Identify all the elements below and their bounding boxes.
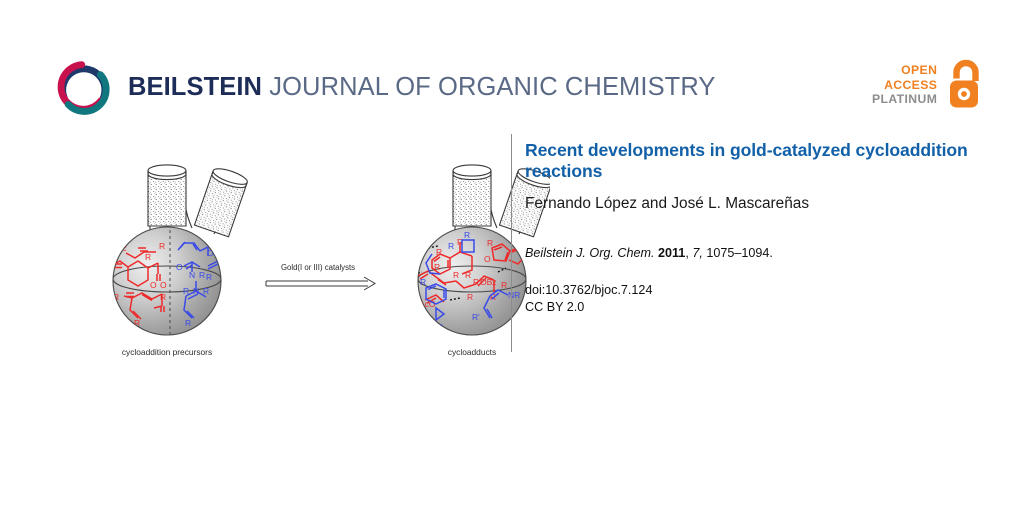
svg-text:N: N [189, 270, 195, 280]
svg-text:R: R [448, 241, 454, 251]
svg-text:R: R [464, 230, 470, 240]
beilstein-ring-logo-icon [52, 56, 114, 118]
open-access-wordstack: OPEN ACCESS PLATINUM [872, 63, 937, 106]
left-flask-neck-primary [148, 165, 186, 226]
svg-text:OAc: OAc [110, 243, 127, 253]
svg-text:R: R [203, 286, 209, 296]
svg-text:R: R [436, 247, 442, 257]
article-authors: Fernando López and José L. Mascareñas [525, 194, 975, 213]
masthead: BEILSTEIN JOURNAL OF ORGANIC CHEMISTRY O… [0, 0, 1024, 135]
svg-text:R: R [434, 262, 440, 272]
svg-text:R: R [467, 292, 473, 302]
graphical-abstract-figure: OAc R R O O R R R [80, 148, 550, 368]
svg-text:R': R' [472, 312, 480, 322]
right-flask-neck-primary [453, 165, 491, 226]
svg-text:R: R [206, 272, 212, 282]
citation-volume: 7, [692, 246, 703, 260]
citation-year: 2011 [658, 246, 685, 260]
svg-text:N: N [193, 286, 199, 296]
article-citation: Beilstein J. Org. Chem. 2011, 7, 1075–10… [525, 245, 975, 261]
svg-text:R: R [183, 286, 189, 296]
svg-text:R: R [487, 238, 493, 248]
svg-text:O: O [150, 280, 157, 290]
svg-text:O: O [484, 254, 491, 264]
open-access-badge[interactable]: OPEN ACCESS PLATINUM [872, 59, 984, 111]
open-padlock-icon [944, 59, 984, 111]
graphical-abstract: OAc R R O O R R R [80, 148, 550, 368]
svg-text:R: R [160, 292, 166, 302]
svg-text:R: R [159, 241, 165, 251]
article-doi[interactable]: doi:10.3762/bjoc.7.124 [525, 282, 975, 300]
article-metadata-panel: Recent developments in gold-catalyzed cy… [525, 140, 975, 317]
journal-wordmark-strong: BEILSTEIN [128, 73, 262, 101]
svg-text:R: R [473, 277, 479, 287]
column-divider [511, 134, 512, 352]
svg-text:O: O [160, 280, 167, 290]
citation-journal: Beilstein J. Org. Chem. [525, 246, 654, 260]
right-flask-caption: cycloadducts [448, 347, 496, 357]
reaction-arrow-group: Gold(I or III) catalysts [266, 263, 375, 290]
journal-brand-lockup[interactable]: BEILSTEIN JOURNAL OF ORGANIC CHEMISTRY [52, 56, 716, 118]
svg-text:R: R [517, 238, 523, 248]
article-license[interactable]: CC BY 2.0 [525, 299, 975, 317]
svg-text:R: R [420, 277, 426, 287]
journal-wordmark: BEILSTEIN JOURNAL OF ORGANIC CHEMISTRY [128, 73, 716, 101]
reaction-arrow-icon [266, 277, 375, 290]
svg-text:R: R [199, 270, 205, 280]
svg-text:R: R [453, 270, 459, 280]
left-flask-group: OAc R R O O R R R [110, 165, 249, 357]
left-flask-neck-secondary [194, 166, 249, 237]
svg-text:R: R [145, 252, 151, 262]
svg-text:OBz: OBz [480, 277, 497, 287]
left-flask-caption: cycloaddition precursors [122, 347, 212, 357]
reaction-arrow-label: Gold(I or III) catalysts [281, 263, 355, 272]
svg-text:O: O [176, 262, 183, 272]
open-access-line-open: OPEN [872, 63, 937, 77]
svg-text:R: R [465, 270, 471, 280]
svg-text:R: R [501, 280, 507, 290]
article-title: Recent developments in gold-catalyzed cy… [525, 140, 975, 183]
svg-text:R: R [185, 318, 191, 328]
open-access-line-platinum: PLATINUM [872, 92, 937, 106]
citation-pages: 1075–1094. [706, 246, 773, 260]
open-access-line-access: ACCESS [872, 78, 937, 92]
svg-text:NR: NR [508, 290, 520, 300]
journal-wordmark-light: JOURNAL OF ORGANIC CHEMISTRY [262, 73, 715, 101]
